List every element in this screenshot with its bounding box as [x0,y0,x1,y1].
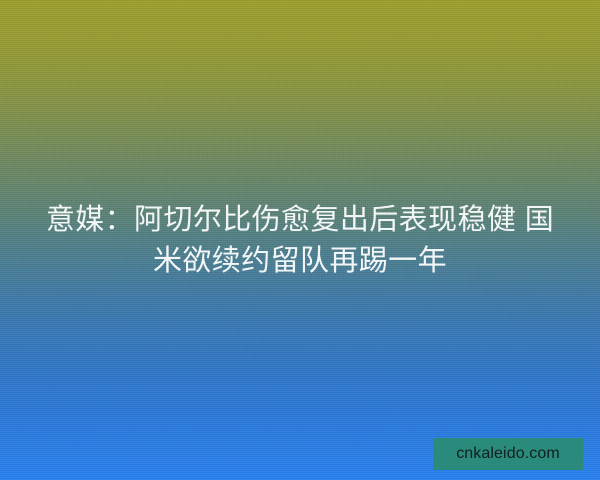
thumbnail-canvas: 意媒：阿切尔比伤愈复出后表现稳健 国 米欲续约留队再踢一年 cnkaleido.… [0,0,600,480]
watermark-badge[interactable]: cnkaleido.com [433,438,583,470]
headline-title: 意媒：阿切尔比伤愈复出后表现稳健 国 米欲续约留队再踢一年 [0,200,600,282]
watermark-label: cnkaleido.com [456,446,560,462]
